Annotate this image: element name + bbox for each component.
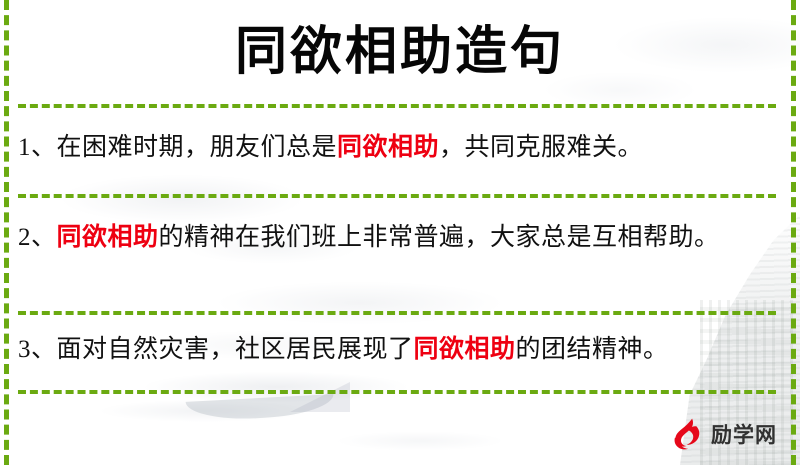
page-title: 同欲相助造句 (0, 22, 800, 84)
sentence-3-idiom-highlight: 同欲相助 (414, 336, 516, 363)
sentence-1-idiom-highlight: 同欲相助 (337, 134, 439, 161)
ink-wash-boat-shape (186, 394, 335, 422)
ink-wash-sail-shape (290, 382, 350, 412)
dashed-border-left (4, 0, 9, 465)
example-sentence-3: 3、面对自然灾害，社区居民展现了同欲相助的团结精神。 (18, 328, 774, 372)
sentence-3-number: 3、 (18, 336, 57, 363)
sentence-1-text-after: ，共同克服难关。 (439, 134, 643, 161)
sentence-3-text-before: 面对自然灾害，社区居民展现了 (57, 336, 414, 363)
sentence-1-number: 1、 (18, 134, 57, 161)
sentence-2-text-after: 的精神在我们班上非常普遍，大家总是互相帮助。 (159, 224, 720, 251)
sentence-1-text-before: 在困难时期，朋友们总是 (57, 134, 338, 161)
example-sentence-2: 2、同欲相助的精神在我们班上非常普遍，大家总是互相帮助。 (18, 216, 774, 260)
dashed-separator-2 (18, 194, 776, 198)
dashed-border-right (791, 0, 796, 465)
dashed-separator-4 (18, 390, 776, 394)
sentence-3-text-after: 的团结精神。 (516, 336, 669, 363)
dashed-separator-1 (18, 104, 776, 108)
red-flame-swirl-icon (668, 415, 706, 453)
example-sentence-1: 1、在困难时期，朋友们总是同欲相助，共同克服难关。 (18, 126, 774, 170)
sentence-2-number: 2、 (18, 224, 57, 251)
dashed-separator-3 (18, 311, 776, 315)
site-watermark-brand: 励学网 (711, 419, 777, 449)
sentence-2-idiom-highlight: 同欲相助 (57, 224, 159, 251)
site-watermark-logo: 励学网 (668, 414, 777, 454)
worksheet-page: 同欲相助造句 1、在困难时期，朋友们总是同欲相助，共同克服难关。 2、同欲相助的… (0, 0, 800, 465)
